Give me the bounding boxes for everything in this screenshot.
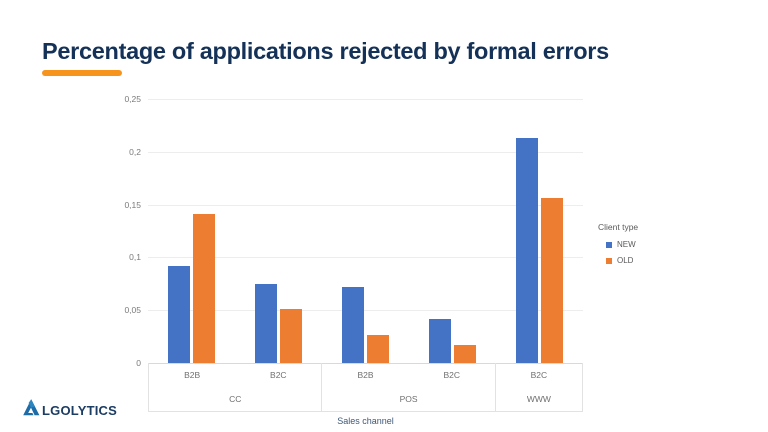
x-axis-title: Sales channel <box>148 416 583 426</box>
x-axis-category-table: B2BB2CCCB2BB2CPOSB2CWWW <box>148 363 583 412</box>
x-axis-subcategory-label: B2B <box>322 363 408 387</box>
x-axis-group-label: CC <box>149 387 321 411</box>
x-axis-group-label: POS <box>322 387 494 411</box>
bar-new-pos-b2c <box>429 319 451 363</box>
y-axis-tick-label: 0,25 <box>124 94 141 104</box>
legend-entries: NEWOLD <box>598 240 638 265</box>
bar-chart: 00,050,10,150,20,25 B2BB2CCCB2BB2CPOSB2C… <box>110 92 630 392</box>
legend-label: OLD <box>617 256 633 265</box>
title-underline-accent <box>42 70 122 76</box>
bar-old-pos-b2c <box>454 345 476 363</box>
y-axis-tick-label: 0,05 <box>124 305 141 315</box>
algolytics-logo: LGOLYTICS <box>22 398 117 422</box>
bar-old-cc-b2b <box>193 214 215 363</box>
x-axis-subcategory-label: B2C <box>409 363 495 387</box>
page-title: Percentage of applications rejected by f… <box>42 38 609 65</box>
legend-swatch-icon <box>606 242 612 248</box>
bar-new-www-b2c <box>516 138 538 363</box>
logo-wordmark: LGOLYTICS <box>42 403 117 418</box>
plot-area: 00,050,10,150,20,25 <box>148 99 583 363</box>
y-axis-tick-label: 0,2 <box>129 147 141 157</box>
x-axis-group-pos: B2BB2CPOS <box>322 363 495 411</box>
bar-new-pos-b2b <box>342 287 364 363</box>
bar-series-container <box>148 99 583 363</box>
legend-entry-new[interactable]: NEW <box>606 240 638 249</box>
x-axis-subcategories: B2BB2C <box>149 363 321 387</box>
algolytics-a-mark-icon <box>22 398 41 422</box>
legend-label: NEW <box>617 240 636 249</box>
x-axis-subcategory-label: B2C <box>235 363 321 387</box>
y-axis-tick-label: 0,1 <box>129 252 141 262</box>
y-axis-tick-label: 0 <box>136 358 141 368</box>
x-axis-subcategory-label: B2B <box>149 363 235 387</box>
x-axis-subcategories: B2BB2C <box>322 363 494 387</box>
legend-swatch-icon <box>606 258 612 264</box>
bar-new-cc-b2b <box>168 266 190 363</box>
y-axis-tick-label: 0,15 <box>124 200 141 210</box>
bar-new-cc-b2c <box>255 284 277 363</box>
bar-old-cc-b2c <box>280 309 302 363</box>
legend-entry-old[interactable]: OLD <box>606 256 638 265</box>
bar-old-pos-b2b <box>367 335 389 364</box>
legend-title: Client type <box>598 222 638 232</box>
x-axis-subcategories: B2C <box>496 363 582 387</box>
bar-old-www-b2c <box>541 198 563 363</box>
x-axis-group-label: WWW <box>496 387 582 411</box>
x-axis-subcategory-label: B2C <box>496 363 582 387</box>
x-axis-group-www: B2CWWW <box>496 363 582 411</box>
x-axis-group-cc: B2BB2CCC <box>149 363 322 411</box>
legend: Client type NEWOLD <box>598 222 638 272</box>
